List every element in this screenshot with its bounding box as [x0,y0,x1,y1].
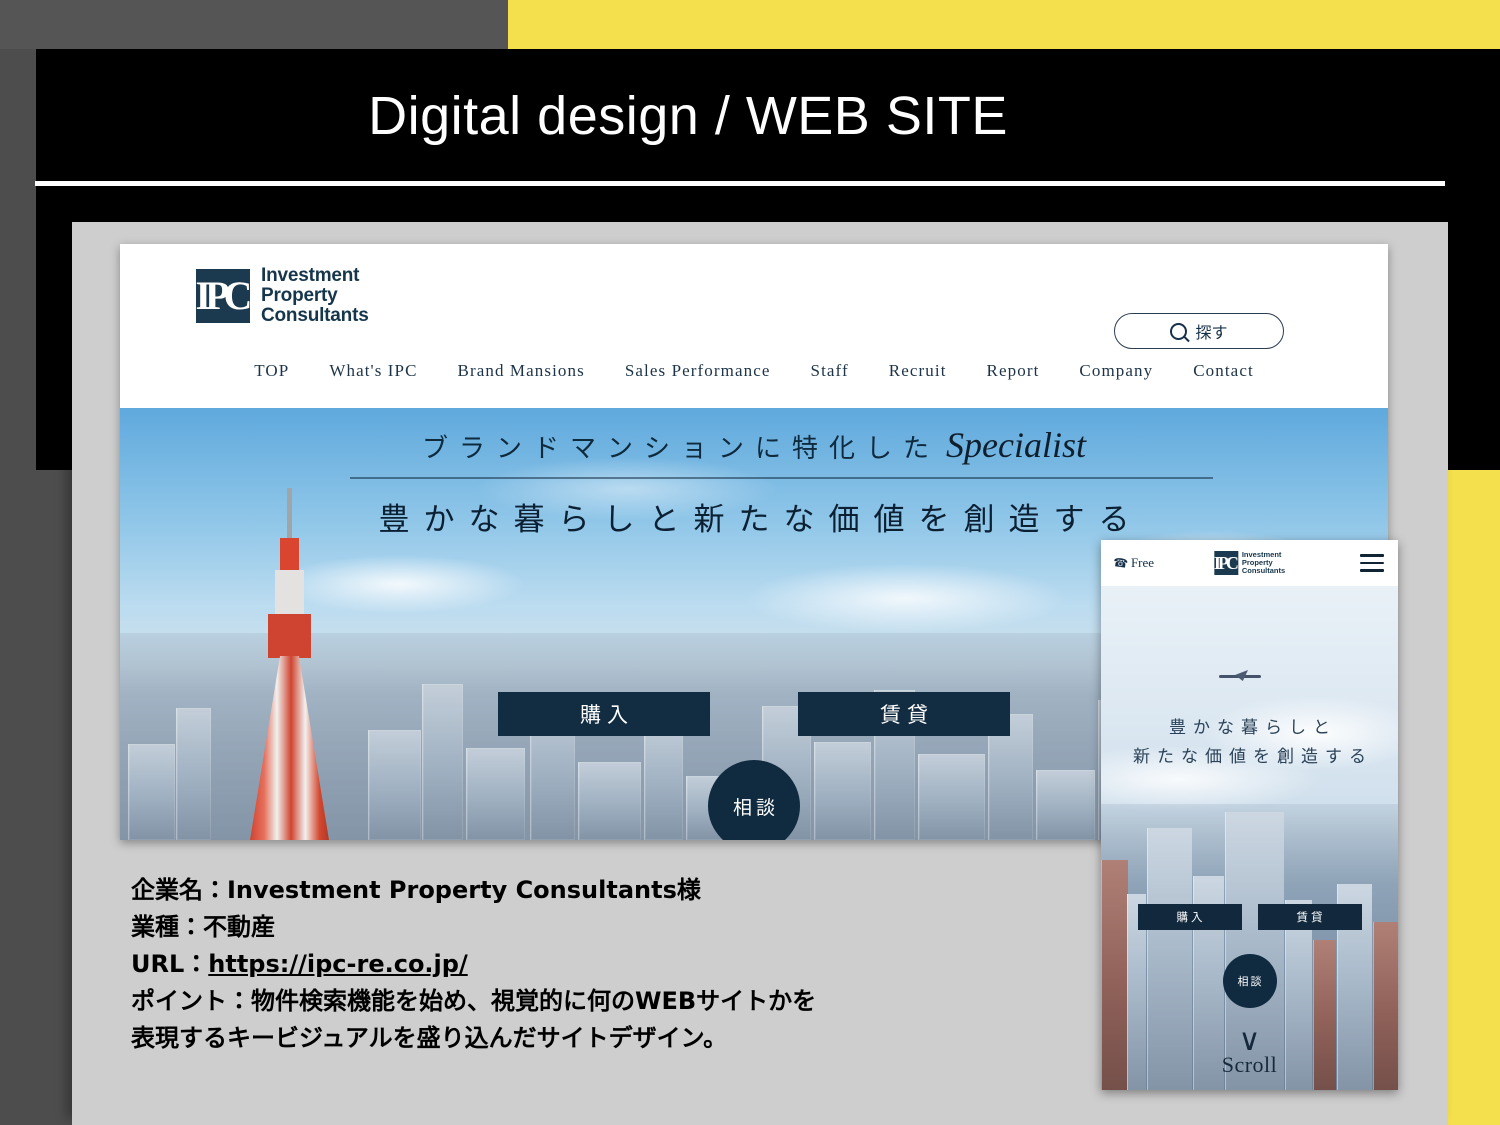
mobile-free-call-link[interactable]: ☎ Free [1113,555,1154,571]
buy-button[interactable]: 購入 [498,692,710,736]
caption-url-row: URL：https://ipc-re.co.jp/ [131,946,1011,983]
mobile-header: ☎ Free IPC Investment Property Consultan… [1101,540,1398,586]
site-logo[interactable]: IPC Investment Property Consultants [196,266,369,326]
site-main-nav: TOP What's IPC Brand Mansions Sales Perf… [120,361,1388,381]
mobile-hero-banner: 豊かな暮らしと 新たな価値を創造する 購入 賃貸 相談 ∨ [1101,586,1398,1090]
caption-company: 企業名：Investment Property Consultants様 [131,872,1011,909]
logo-line-2: Property [261,286,369,306]
hero-tagline: ブランドマンションに特化したSpecialist [120,424,1388,466]
mobile-site-logo[interactable]: IPC Investment Property Consultants [1214,551,1285,575]
mobile-hero-headline-line-2: 新たな価値を創造する [1101,743,1398,772]
caption-point-line-1: ポイント：物件検索機能を始め、視覚的に何のWEBサイトかを [131,983,1011,1020]
decor-gray-top-left [0,0,508,49]
nav-item-whats-ipc[interactable]: What's IPC [329,361,417,381]
airplane-icon [1219,670,1261,682]
ipc-logo-mark-icon: IPC [196,269,250,323]
logo-line-1: Investment [261,266,369,286]
mobile-hero-headline: 豊かな暮らしと 新たな価値を創造する [1101,714,1398,772]
ipc-logo-monogram: IPC [196,269,250,323]
site-logo-wordmark: Investment Property Consultants [261,266,369,326]
site-header: IPC Investment Property Consultants 探す T… [120,244,1388,408]
nav-item-staff[interactable]: Staff [811,361,849,381]
mobile-ipc-logo-mark-icon: IPC [1214,551,1238,575]
mobile-free-label: Free [1131,555,1154,571]
rent-button[interactable]: 賃貸 [798,692,1010,736]
hero-tagline-script: Specialist [946,425,1086,465]
slide-root: Digital design / WEB SITE IPC Investment… [0,0,1500,1125]
caption-url-prefix: URL： [131,950,208,978]
mobile-rent-button[interactable]: 賃貸 [1258,904,1362,930]
mobile-consult-button[interactable]: 相談 [1223,954,1277,1008]
nav-item-contact[interactable]: Contact [1193,361,1254,381]
nav-item-top[interactable]: TOP [254,361,289,381]
hamburger-menu-icon[interactable] [1360,554,1384,572]
scroll-label: Scroll [1222,1052,1278,1077]
mobile-hero-cta-row: 購入 賃貸 [1101,904,1398,930]
chevron-down-icon: ∨ [1222,1030,1278,1052]
title-divider-rule [35,181,1445,186]
nav-item-brand-mansions[interactable]: Brand Mansions [458,361,585,381]
caption-block: 企業名：Investment Property Consultants様 業種：… [131,872,1011,1057]
slide-title-bar: Digital design / WEB SITE [36,49,1500,183]
search-button[interactable]: 探す [1114,313,1284,349]
mobile-ipc-logo-monogram: IPC [1214,551,1238,575]
mobile-logo-line-3: Consultants [1242,567,1285,575]
decor-yellow-top-bar [508,0,1500,49]
mobile-buy-button[interactable]: 購入 [1138,904,1242,930]
nav-item-recruit[interactable]: Recruit [889,361,947,381]
hero-headline: 豊かな暮らしと新たな価値を創造する [120,494,1388,539]
caption-point-line-2: 表現するキービジュアルを盛り込んだサイトデザイン。 [131,1020,1011,1057]
mobile-logo-wordmark: Investment Property Consultants [1242,551,1285,575]
nav-item-company[interactable]: Company [1079,361,1153,381]
page-title: Digital design / WEB SITE [368,85,1008,147]
search-button-label: 探す [1195,319,1227,343]
nav-item-report[interactable]: Report [987,361,1040,381]
nav-item-sales-performance[interactable]: Sales Performance [625,361,771,381]
phone-icon: ☎ [1112,555,1129,572]
mobile-sky-decor [1101,586,1398,816]
mobile-hero-headline-line-1: 豊かな暮らしと [1101,714,1398,743]
logo-line-3: Consultants [261,306,369,326]
hero-tagline-underline [350,477,1213,479]
search-icon [1170,323,1187,340]
decor-yellow-right-bar [1448,470,1500,1125]
caption-industry: 業種：不動産 [131,909,1011,946]
tokyo-tower-decor [228,488,352,840]
hero-tagline-japanese: ブランドマンションに特化した [422,434,940,464]
scroll-indicator[interactable]: ∨ Scroll [1222,1030,1278,1078]
mobile-site-screenshot: ☎ Free IPC Investment Property Consultan… [1101,540,1398,1090]
caption-url-link[interactable]: https://ipc-re.co.jp/ [208,950,467,978]
